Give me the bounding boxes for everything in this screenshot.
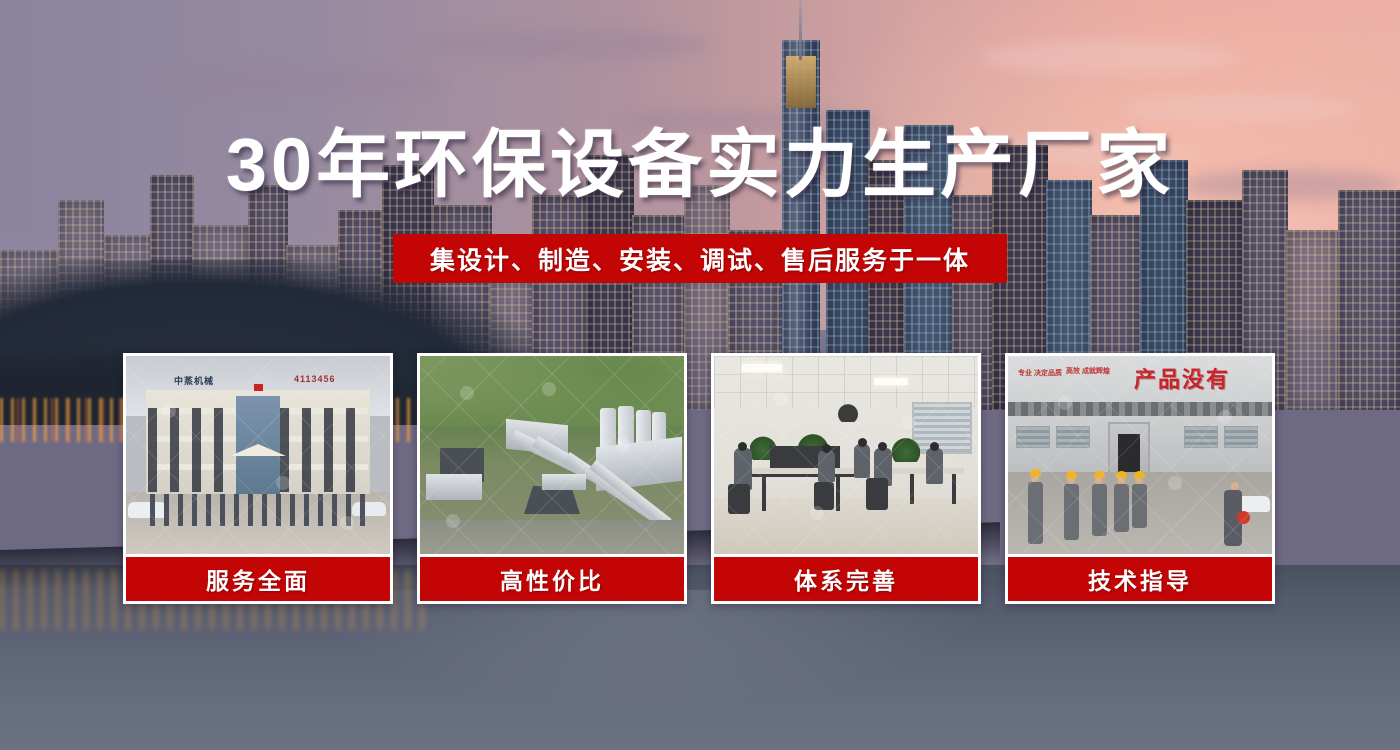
subtitle-text: 集设计、制造、安装、调试、售后服务于一体 [430,241,970,277]
card-caption-label: 高性价比 [500,562,604,596]
building-sign-text: 中蒸机械 [174,374,214,387]
hero-banner: 30年环保设备实力生产厂家 集设计、制造、安装、调试、售后服务于一体 中蒸机械 … [0,0,1400,750]
card-caption-label: 服务全面 [206,562,310,596]
workshop-training-photo: 产品没有 专业 决定品质 高效 成就辉煌 [1008,356,1272,554]
tower-crown [786,56,816,108]
company-headquarters-photo: 中蒸机械 4113456 [126,356,390,554]
wall-logo [830,396,866,422]
feature-card[interactable]: 中蒸机械 4113456 服务全面 [123,353,393,604]
subtitle-banner: 集设计、制造、安装、调试、售后服务于一体 [393,234,1007,283]
building-phone-text: 4113456 [294,374,336,384]
factory-slogan: 高效 成就辉煌 [1066,368,1110,377]
card-caption: 体系完善 [714,557,978,601]
factory-wall-text: 产品没有 [1134,362,1230,394]
card-caption: 服务全面 [126,557,390,601]
card-caption-label: 体系完善 [794,562,898,596]
production-plant-aerial-photo [420,356,684,554]
card-caption: 高性价比 [420,557,684,601]
feature-card[interactable]: 产品没有 专业 决定品质 高效 成就辉煌 [1005,353,1275,604]
card-caption-label: 技术指导 [1088,562,1192,596]
office-interior-photo [714,356,978,554]
water-sheen [300,590,1000,710]
tower-spire [799,0,802,60]
feature-card[interactable]: 高性价比 [417,353,687,604]
page-title: 30年环保设备实力生产厂家 [0,128,1400,202]
factory-slogan: 专业 决定品质 [1018,370,1062,379]
feature-card[interactable]: 体系完善 [711,353,981,604]
feature-card-list: 中蒸机械 4113456 服务全面 [123,353,1275,604]
card-caption: 技术指导 [1008,557,1272,601]
